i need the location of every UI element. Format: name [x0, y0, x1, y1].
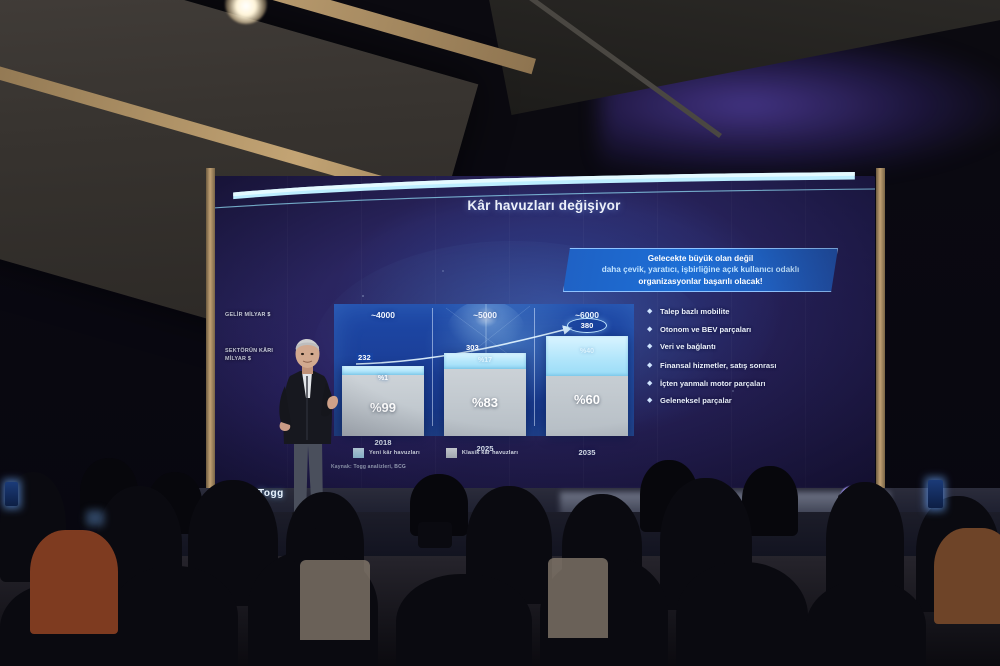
callout-line-1: Gelecekte büyük olan değil	[648, 253, 754, 264]
profit-value-2035-highlight: 380	[567, 318, 607, 333]
bar-2018: %1 %99	[342, 366, 424, 436]
screen-frame-post-left	[206, 168, 215, 498]
audience-member-front	[676, 562, 808, 666]
bullet-list: ◆ Talep bazlı mobilite ◆ Otonom ve BEV p…	[647, 306, 852, 413]
presentation-scene: Kâr havuzları değişiyor Gelecekte büyük …	[0, 0, 1000, 666]
bullet-item: ◆ İçten yanmalı motor parçaları	[647, 378, 852, 389]
diamond-bullet-icon: ◆	[647, 395, 652, 406]
bar-2035: %40 %60	[546, 336, 628, 436]
bar-2018-new-pool	[342, 366, 424, 375]
revenue-value-2018: ~4000	[348, 310, 418, 320]
revenue-value-2025: ~5000	[450, 310, 520, 320]
bar-2035-new-label: %40	[546, 348, 628, 355]
bar-2025-new-label: %17	[444, 357, 526, 364]
bullet-item: ◆ Finansal hizmetler, satış sonrası	[647, 360, 852, 371]
profit-value-2025: 303	[464, 343, 481, 352]
bullet-item: ◆ Otonom ve BEV parçaları	[647, 324, 852, 335]
callout-box: Gelecekte büyük olan değil daha çevik, y…	[563, 248, 838, 292]
chart-area: ~4000 ~5000 ~6000 %1 %99 232 %17 %83 303	[334, 304, 634, 436]
year-label-2018: 2018	[342, 438, 424, 447]
bar-2035-classic-label: %60	[546, 392, 628, 407]
diamond-bullet-icon: ◆	[647, 324, 652, 335]
screen-frame-post-right	[876, 168, 885, 498]
audience-area	[0, 452, 1000, 666]
diamond-bullet-icon: ◆	[647, 341, 652, 352]
bar-2025: %17 %83	[444, 353, 526, 436]
phone-screen	[5, 482, 18, 506]
axis-label-revenue: GELİR MİLYAR $	[225, 312, 271, 320]
bullet-label: Otonom ve BEV parçaları	[660, 324, 751, 335]
audience-member-orange-jacket	[30, 530, 118, 634]
bullet-label: Geleneksel parçalar	[660, 395, 732, 406]
callout-line-2: daha çevik, yaratıcı, işbirliğine açık k…	[602, 264, 800, 275]
phone-screen-glow	[86, 510, 104, 526]
chair	[548, 558, 608, 638]
bar-2018-new-label: %1	[342, 375, 424, 382]
bullet-item: ◆ Geleneksel parçalar	[647, 395, 852, 406]
audience-member-front	[396, 574, 532, 666]
bullet-item: ◆ Veri ve bağlantı	[647, 341, 852, 352]
screen-top-light-strip	[209, 172, 879, 200]
diamond-bullet-icon: ◆	[647, 378, 652, 389]
bullet-label: Veri ve bağlantı	[660, 341, 716, 352]
bullet-label: Talep bazlı mobilite	[660, 306, 729, 317]
bar-2035-new-pool	[546, 336, 628, 376]
diamond-bullet-icon: ◆	[647, 360, 652, 371]
audience-member-orange-jacket	[934, 528, 1000, 624]
camera-rig	[292, 528, 318, 562]
audience-member-front	[110, 566, 238, 666]
bullet-label: İçten yanmalı motor parçaları	[660, 378, 766, 389]
bullet-label: Finansal hizmetler, satış sonrası	[660, 360, 776, 371]
chair	[300, 560, 370, 640]
bullet-item: ◆ Talep bazlı mobilite	[647, 306, 852, 317]
axis-label-profit: SEKTÖRÜN KÂRIMİLYAR $	[225, 348, 273, 364]
bar-2025-classic-label: %83	[444, 395, 526, 410]
camera-rig	[418, 522, 452, 548]
audience-member-front	[806, 580, 926, 666]
callout-line-3: organizasyonlar başarılı olacak!	[638, 276, 762, 287]
phone-screen	[928, 480, 943, 508]
profit-value-2018: 232	[356, 353, 373, 362]
diamond-bullet-icon: ◆	[647, 306, 652, 317]
bar-2018-classic-label: %99	[342, 400, 424, 415]
